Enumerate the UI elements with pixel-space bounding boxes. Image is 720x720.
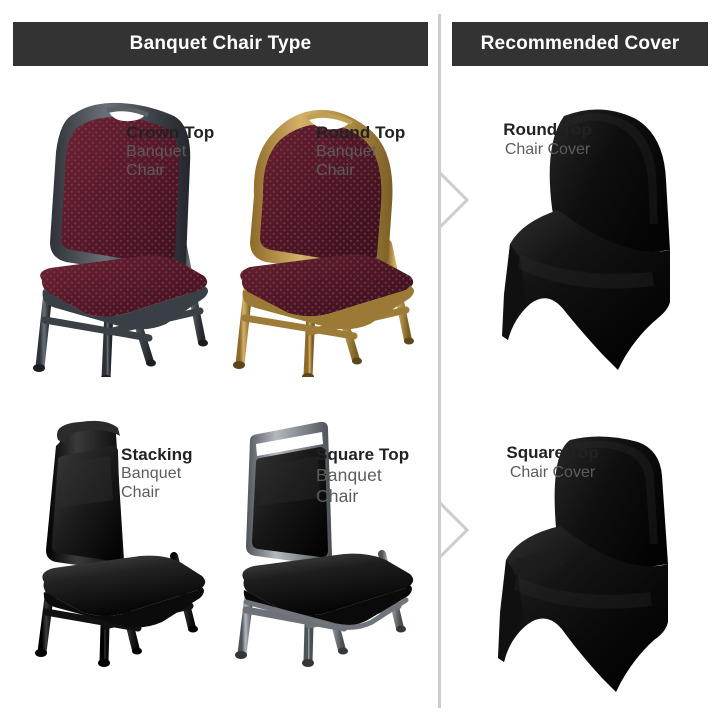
round-top-cover-subtitle: Chair Cover	[465, 140, 630, 159]
square-top-cover-title: Square Top	[465, 443, 640, 463]
crown-top-subtitle-1: Banquet	[126, 143, 214, 162]
stacking-subtitle-2: Chair	[121, 484, 193, 503]
square-top-cover-subtitle: Chair Cover	[465, 463, 640, 482]
round-top-title: Round Top	[316, 123, 405, 143]
stacking-label: Stacking Banquet Chair	[121, 445, 193, 503]
square-top-subtitle-2: Chair	[316, 486, 409, 507]
square-top-title: Square Top	[316, 445, 409, 465]
square-top-cover-label: Square Top Chair Cover	[465, 443, 640, 483]
header-row: Banquet Chair Type Recommended Cover	[0, 22, 720, 66]
round-top-subtitle-1: Banquet	[316, 143, 405, 162]
header-right-label: Recommended Cover	[481, 33, 680, 55]
stacking-subtitle-1: Banquet	[121, 465, 193, 484]
square-top-label: Square Top Banquet Chair	[316, 445, 409, 506]
square-top-subtitle-1: Banquet	[316, 465, 409, 486]
header-banquet-chair-type: Banquet Chair Type	[13, 22, 428, 66]
round-top-subtitle-2: Chair	[316, 162, 405, 181]
round-top-cover-title: Round Top	[465, 120, 630, 140]
crown-top-title: Crown Top	[126, 123, 214, 143]
round-top-cover-label: Round Top Chair Cover	[465, 120, 630, 160]
stacking-title: Stacking	[121, 445, 193, 465]
crown-top-subtitle-2: Chair	[126, 162, 214, 181]
crown-top-label: Crown Top Banquet Chair	[126, 123, 214, 181]
header-left-label: Banquet Chair Type	[130, 33, 312, 55]
round-top-label: Round Top Banquet Chair	[316, 123, 405, 181]
column-divider	[438, 14, 441, 708]
header-recommended-cover: Recommended Cover	[452, 22, 708, 66]
